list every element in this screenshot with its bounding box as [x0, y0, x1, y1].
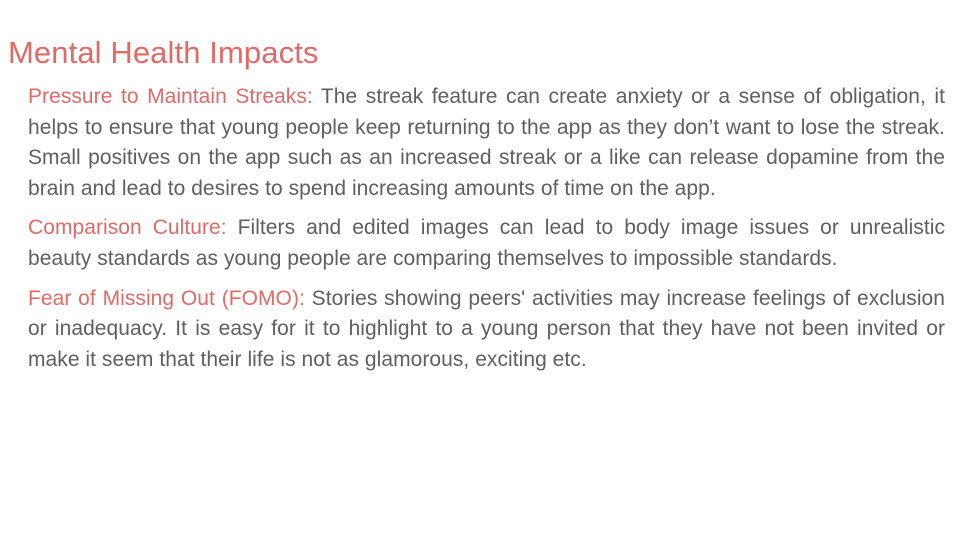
slide-body: Pressure to Maintain Streaks: The streak…: [28, 82, 945, 375]
slide-canvas: Mental Health Impacts Pressure to Mainta…: [0, 0, 960, 540]
page-title: Mental Health Impacts: [8, 34, 319, 72]
paragraph-lead-label: Fear of Missing Out (FOMO):: [28, 287, 305, 310]
paragraph-lead-label: Comparison Culture:: [28, 216, 227, 239]
paragraph-lead-label: Pressure to Maintain Streaks:: [28, 85, 313, 108]
paragraph-pressure-to-maintain-streaks: Pressure to Maintain Streaks: The streak…: [28, 82, 945, 204]
paragraph-fear-of-missing-out: Fear of Missing Out (FOMO): Stories show…: [28, 284, 945, 376]
paragraph-comparison-culture: Comparison Culture: Filters and edited i…: [28, 213, 945, 274]
